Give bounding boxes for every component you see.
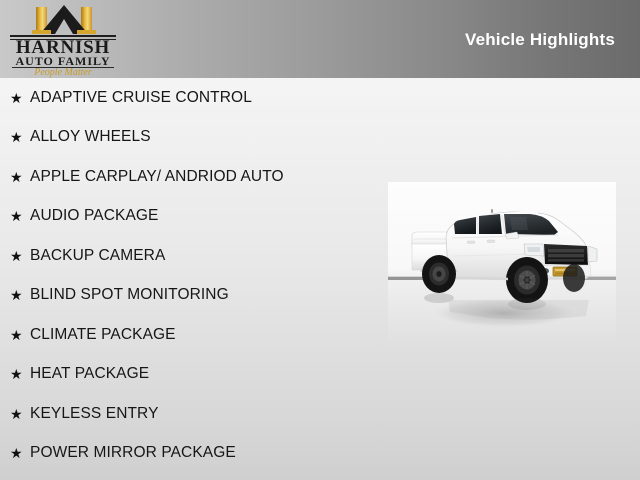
star-icon: ★ (10, 91, 30, 105)
star-icon: ★ (10, 170, 30, 184)
star-icon: ★ (10, 209, 30, 223)
page-title: Vehicle Highlights (465, 30, 615, 50)
list-item-label: BACKUP CAMERA (30, 247, 380, 265)
vehicle-highlights-list: ★ ADAPTIVE CRUISE CONTROL ★ ALLOY WHEELS… (0, 78, 380, 473)
logo-peak-notch (55, 19, 73, 34)
rear-wheel (422, 255, 456, 293)
list-item-label: HEAT PACKAGE (30, 365, 380, 383)
list-item: ★ CLIMATE PACKAGE (0, 315, 380, 355)
vehicle-photo[interactable] (388, 182, 616, 353)
star-icon: ★ (10, 288, 30, 302)
list-item: ★ AUDIO PACKAGE (0, 197, 380, 237)
list-item: ★ BLIND SPOT MONITORING (0, 276, 380, 316)
list-item-label: BLIND SPOT MONITORING (30, 286, 380, 304)
list-item-label: CLIMATE PACKAGE (30, 326, 380, 344)
list-item-label: ALLOY WHEELS (30, 128, 380, 146)
list-item-label: APPLE CARPLAY/ ANDRIOD AUTO (30, 168, 380, 186)
star-icon: ★ (10, 130, 30, 144)
list-item-label: KEYLESS ENTRY (30, 405, 380, 423)
list-item-label: POWER MIRROR PACKAGE (30, 444, 380, 462)
star-icon: ★ (10, 407, 30, 421)
star-icon: ★ (10, 328, 30, 342)
list-item: ★ ALLOY WHEELS (0, 118, 380, 158)
front-wheel (506, 257, 548, 303)
list-item: ★ POWER MIRROR PACKAGE (0, 434, 380, 474)
header-bar: HARNISH AUTO FAMILY People Matter Vehicl… (0, 0, 640, 78)
list-item: ★ BACKUP CAMERA (0, 236, 380, 276)
list-item: ★ APPLE CARPLAY/ ANDRIOD AUTO (0, 157, 380, 197)
vehicle-highlights-page: HARNISH AUTO FAMILY People Matter Vehicl… (0, 0, 640, 480)
harnish-h-monogram-icon (10, 4, 118, 34)
list-item: ★ HEAT PACKAGE (0, 355, 380, 395)
dealer-logo[interactable]: HARNISH AUTO FAMILY People Matter (10, 4, 118, 76)
star-icon: ★ (10, 249, 30, 263)
list-item: ★ ADAPTIVE CRUISE CONTROL (0, 78, 380, 118)
list-item: ★ KEYLESS ENTRY (0, 394, 380, 434)
logo-column-base-right (77, 30, 96, 34)
list-item-label: ADAPTIVE CRUISE CONTROL (30, 89, 380, 107)
star-icon: ★ (10, 446, 30, 460)
list-item-label: AUDIO PACKAGE (30, 207, 380, 225)
logo-column-base-left (32, 30, 51, 34)
star-icon: ★ (10, 367, 30, 381)
